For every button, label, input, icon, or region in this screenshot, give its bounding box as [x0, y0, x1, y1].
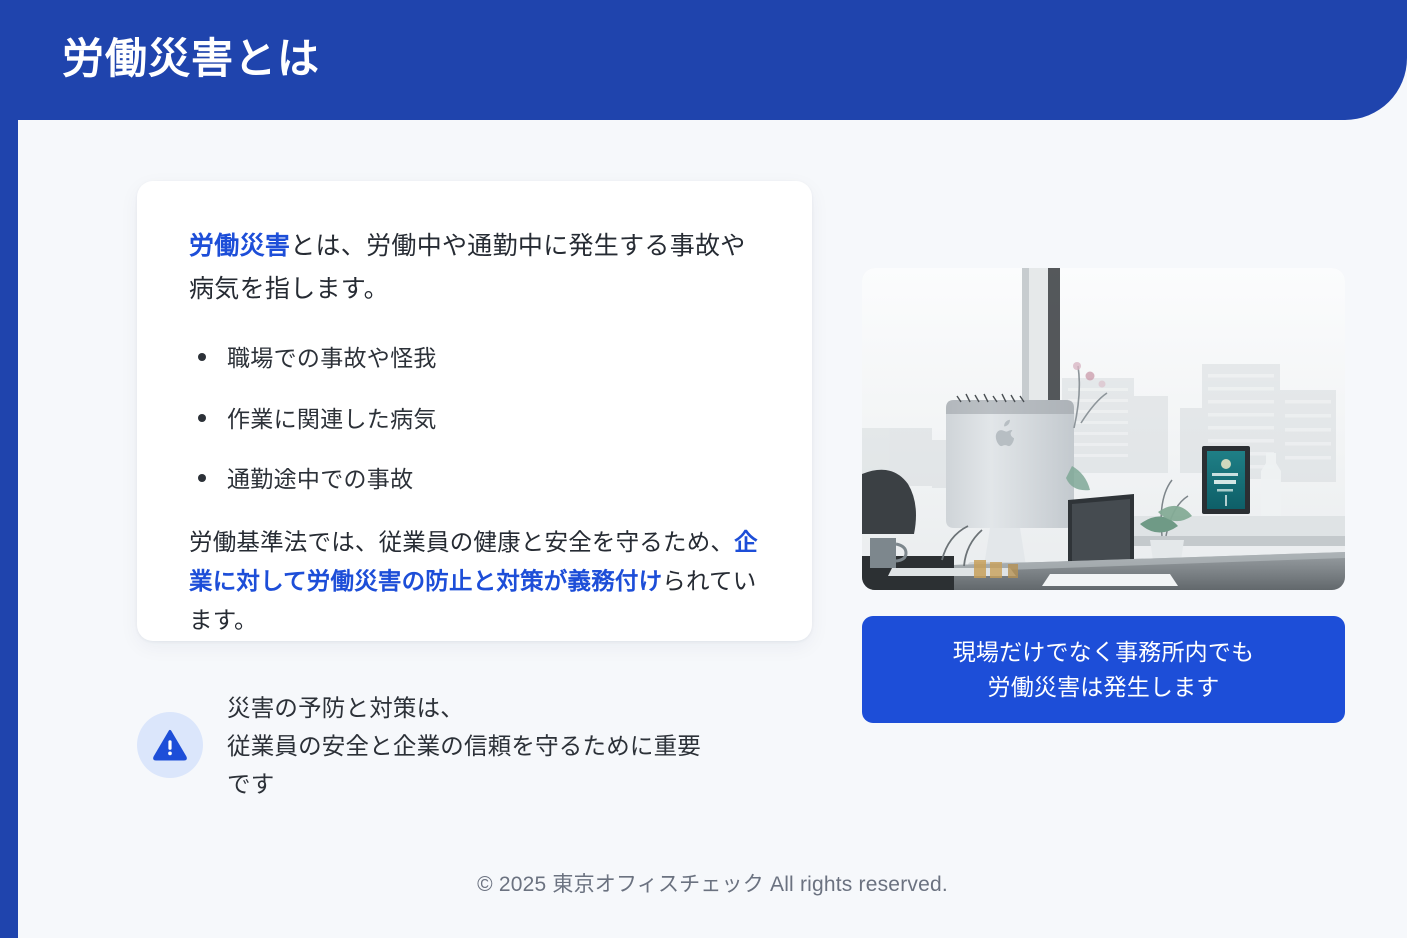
list-item: 職場での事故や怪我	[189, 341, 768, 376]
photo-caption-line-2: 労働災害は発生します	[988, 670, 1220, 705]
law-paragraph: 労働基準法では、従業員の健康と安全を守るため、企業に対して労働災害の防止と対策が…	[189, 523, 768, 641]
page-header: 労働災害とは	[0, 0, 1407, 120]
law-paragraph-part1: 労働基準法では、従業員の健康と安全を守るため、	[189, 529, 734, 555]
warning-icon-circle	[137, 712, 203, 778]
info-card: 労働災害とは、労働中や通勤中に発生する事故や病気を指します。 職場での事故や怪我…	[137, 181, 812, 641]
list-item-label: 作業に関連した病気	[227, 406, 437, 432]
warning-triangle-icon	[152, 727, 188, 763]
left-accent-rail	[0, 0, 18, 938]
warning-callout: 災害の予防と対策は、 従業員の安全と企業の信頼を守るために重要 です	[137, 680, 837, 810]
bullet-dot-icon	[198, 414, 206, 422]
lead-paragraph: 労働災害とは、労働中や通勤中に発生する事故や病気を指します。	[189, 225, 768, 311]
warning-text: 災害の予防と対策は、 従業員の安全と企業の信頼を守るために重要 です	[227, 687, 701, 803]
list-item-label: 職場での事故や怪我	[227, 345, 437, 371]
bullet-dot-icon	[198, 474, 206, 482]
list-item: 作業に関連した病気	[189, 402, 768, 437]
bullet-dot-icon	[198, 353, 206, 361]
warning-line-1: 災害の予防と対策は、	[227, 689, 701, 727]
list-item: 通勤途中での事故	[189, 462, 768, 497]
list-item-label: 通勤途中での事故	[227, 466, 413, 492]
page-title: 労働災害とは	[62, 36, 320, 82]
bullet-list: 職場での事故や怪我 作業に関連した病気 通勤途中での事故	[189, 341, 768, 497]
warning-line-2: 従業員の安全と企業の信頼を守るために重要	[227, 727, 701, 765]
warning-line-3: です	[227, 765, 701, 803]
office-photo	[862, 268, 1345, 590]
photo-caption-box: 現場だけでなく事務所内でも 労働災害は発生します	[862, 616, 1345, 723]
lead-accent-term: 労働災害	[189, 232, 290, 260]
slide-page: 労働災害とは 労働災害とは、労働中や通勤中に発生する事故や病気を指します。 職場…	[0, 0, 1407, 938]
content-area: 労働災害とは、労働中や通勤中に発生する事故や病気を指します。 職場での事故や怪我…	[18, 120, 1407, 938]
footer: © 2025 東京オフィスチェック All rights reserved.	[18, 868, 1407, 898]
photo-caption-line-1: 現場だけでなく事務所内でも	[953, 635, 1255, 670]
copyright-text: © 2025 東京オフィスチェック All rights reserved.	[477, 873, 948, 896]
